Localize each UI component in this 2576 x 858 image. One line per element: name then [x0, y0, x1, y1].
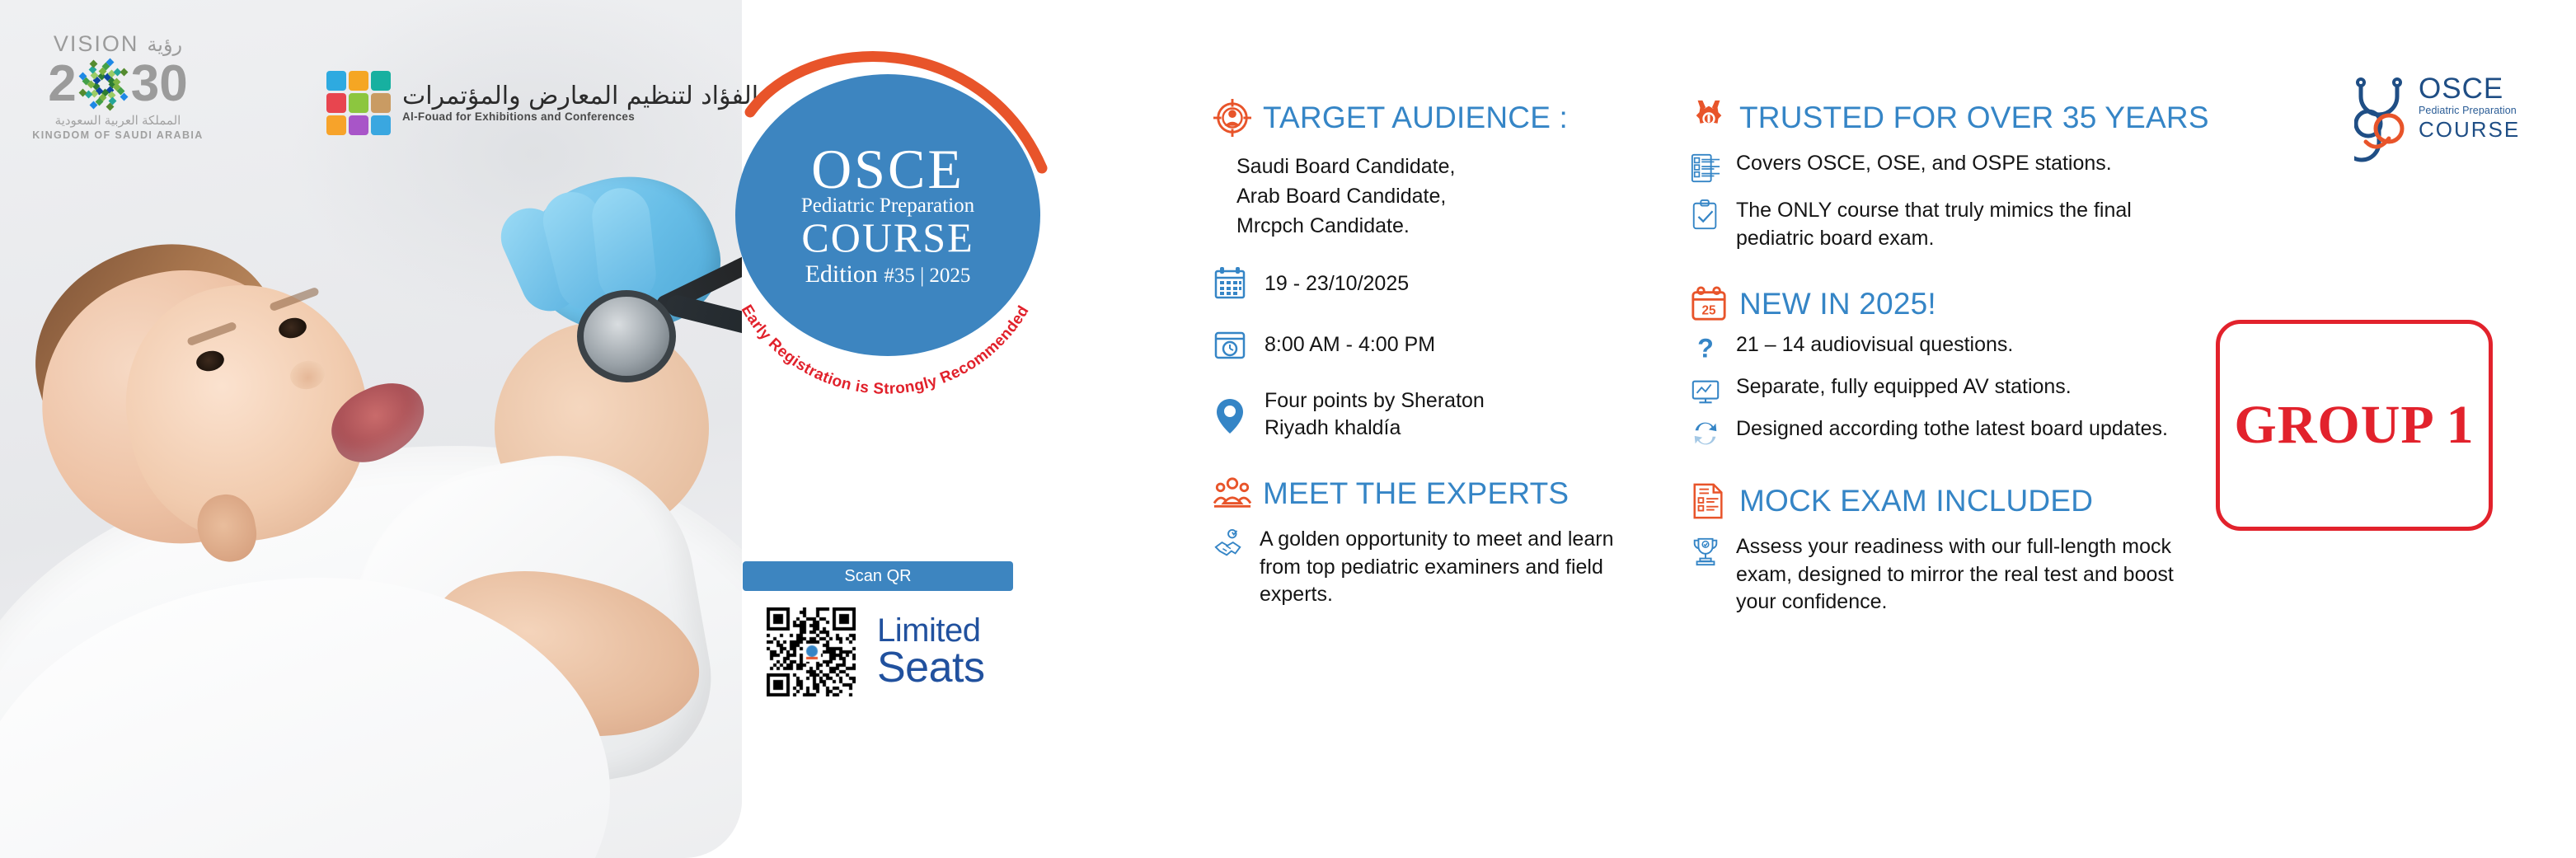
question-mark-icon: ?	[1690, 334, 1721, 365]
medal-icon	[1690, 99, 1728, 137]
vision-kingdom-english: KINGDOM OF SAUDI ARABIA	[23, 129, 213, 141]
meta-time: 8:00 AM - 4:00 PM	[1213, 326, 1642, 363]
section-header-new-2025: 25 NEW IN 2025!	[1690, 285, 2201, 323]
bullet-item: Designed according tothe latest board up…	[1690, 415, 2201, 449]
meta-date-text: 19 - 23/10/2025	[1265, 270, 1409, 298]
trusted-heading: TRUSTED FOR OVER 35 YEARS	[1739, 101, 2209, 135]
vision-kingdom-arabic: المملكة العربية السعودية	[23, 113, 213, 128]
meet-experts-heading: MEET THE EXPERTS	[1263, 476, 1569, 511]
svg-text:25: 25	[1701, 303, 1716, 317]
vision-word: VISION	[54, 31, 139, 57]
bullet-text: Covers OSCE, OSE, and OSPE stations.	[1736, 150, 2112, 178]
vision-year-left: 2	[48, 59, 76, 110]
clock-icon	[1213, 326, 1246, 363]
bullet-item: A golden opportunity to meet and learn f…	[1213, 526, 1642, 609]
osce-course-mark: OSCE Pediatric Preparation COURSE	[2354, 73, 2524, 165]
qr-row: Limited Seats	[767, 607, 984, 696]
vision-emblem-icon	[78, 59, 129, 110]
osce-course-badge: OSCE Pediatric Preparation COURSE Editio…	[725, 30, 1072, 508]
handshake-icon	[1213, 528, 1245, 560]
fouad-text: الفؤاد لتنظيم المعارض والمؤتمرات Al-Foua…	[402, 84, 758, 123]
refresh-icon	[1690, 418, 1721, 449]
calendar-25-icon: 25	[1690, 285, 1728, 323]
osce-mark-title: OSCE	[2419, 74, 2520, 103]
people-group-icon	[1213, 475, 1251, 513]
column-target-audience: TARGET AUDIENCE : Saudi Board Candidate,…	[1213, 99, 1642, 609]
scan-qr-label: Scan QR	[844, 567, 911, 586]
limited-seats-text: Limited Seats	[877, 615, 984, 689]
monitor-icon	[1690, 376, 1721, 407]
target-person-icon	[1213, 99, 1251, 137]
bullet-text: 21 – 14 audiovisual questions.	[1736, 331, 2013, 359]
bullet-text: A golden opportunity to meet and learn f…	[1260, 526, 1642, 609]
vision-arabic: رؤية	[147, 33, 182, 57]
limited-line2: Seats	[877, 648, 984, 689]
vision-2030-logo: VISION رؤية 2 30 المملكة العربية السعودي…	[23, 31, 213, 141]
new-2025-heading: NEW IN 2025!	[1739, 287, 1936, 321]
bullet-text: The ONLY course that truly mimics the fi…	[1736, 197, 2201, 252]
osce-mark-subtitle: Pediatric Preparation	[2419, 105, 2520, 116]
bullet-text: Designed according tothe latest board up…	[1736, 415, 2168, 443]
target-audience-heading: TARGET AUDIENCE :	[1263, 101, 1568, 135]
stethoscope-chestpiece	[577, 290, 676, 382]
section-header-meet-experts: MEET THE EXPERTS	[1213, 475, 1642, 513]
group-badge-label: GROUP 1	[2234, 394, 2474, 457]
meta-date: 19 - 23/10/2025	[1213, 265, 1642, 302]
vision-logo-top: VISION رؤية	[23, 31, 213, 57]
exam-document-icon	[1690, 482, 1728, 520]
audience-item: Saudi Board Candidate,	[1236, 152, 1642, 181]
section-header-mock-exam: MOCK EXAM INCLUDED	[1690, 482, 2201, 520]
scan-qr-bar[interactable]: Scan QR	[743, 561, 1013, 591]
location-pin-icon	[1213, 396, 1246, 433]
osce-mark-text: OSCE Pediatric Preparation COURSE	[2419, 74, 2520, 140]
audience-list: Saudi Board Candidate, Arab Board Candid…	[1236, 152, 1642, 241]
meta-time-text: 8:00 AM - 4:00 PM	[1265, 331, 1435, 359]
curved-note-text: Early Registration is Strongly Recommend…	[738, 302, 1033, 397]
audience-item: Mrcpch Candidate.	[1236, 211, 1642, 241]
trophy-icon	[1690, 536, 1721, 567]
vision-year-right: 30	[131, 59, 188, 110]
fouad-arabic: الفؤاد لتنظيم المعارض والمؤتمرات	[402, 84, 758, 109]
section-header-trusted: TRUSTED FOR OVER 35 YEARS	[1690, 99, 2201, 137]
stethoscope-smiley-icon	[2354, 73, 2420, 165]
bullet-item: ? 21 – 14 audiovisual questions.	[1690, 331, 2201, 365]
group-badge: GROUP 1	[2216, 320, 2493, 531]
meta-location: Four points by Sheraton Riyadh khaldía	[1213, 387, 1642, 442]
svg-text:?: ?	[1697, 334, 1714, 363]
bullet-item: Separate, fully equipped AV stations.	[1690, 373, 2201, 407]
bullet-text: Assess your readiness with our full-leng…	[1736, 533, 2201, 617]
badge-curved-note: Early Registration is Strongly Recommend…	[725, 153, 1072, 483]
calendar-icon	[1213, 265, 1246, 302]
osce-mark-course: COURSE	[2419, 119, 2520, 140]
column-course-features: TRUSTED FOR OVER 35 YEARS Covers OSCE, O…	[1690, 99, 2201, 617]
fouad-english: Al-Fouad for Exhibitions and Conferences	[402, 110, 758, 123]
clipboard-check-icon	[1690, 199, 1721, 231]
bullet-text: Separate, fully equipped AV stations.	[1736, 373, 2072, 401]
meta-location-text: Four points by Sheraton Riyadh khaldía	[1265, 387, 1485, 442]
limited-line1: Limited	[877, 615, 984, 646]
bullet-item: The ONLY course that truly mimics the fi…	[1690, 197, 2201, 252]
vision-year: 2 30	[23, 59, 213, 110]
mock-exam-heading: MOCK EXAM INCLUDED	[1739, 484, 2093, 518]
section-header-target-audience: TARGET AUDIENCE :	[1213, 99, 1642, 137]
al-fouad-logo: الفؤاد لتنظيم المعارض والمؤتمرات Al-Foua…	[326, 71, 758, 135]
audience-item: Arab Board Candidate,	[1236, 181, 1642, 211]
promotional-banner: VISION رؤية 2 30 المملكة العربية السعودي…	[0, 0, 2576, 858]
bullet-item: Covers OSCE, OSE, and OSPE stations.	[1690, 150, 2201, 184]
bullet-item: Assess your readiness with our full-leng…	[1690, 533, 2201, 617]
checklist-icon	[1690, 152, 1721, 184]
qr-code[interactable]	[767, 607, 856, 696]
fouad-grid-icon	[326, 71, 391, 135]
